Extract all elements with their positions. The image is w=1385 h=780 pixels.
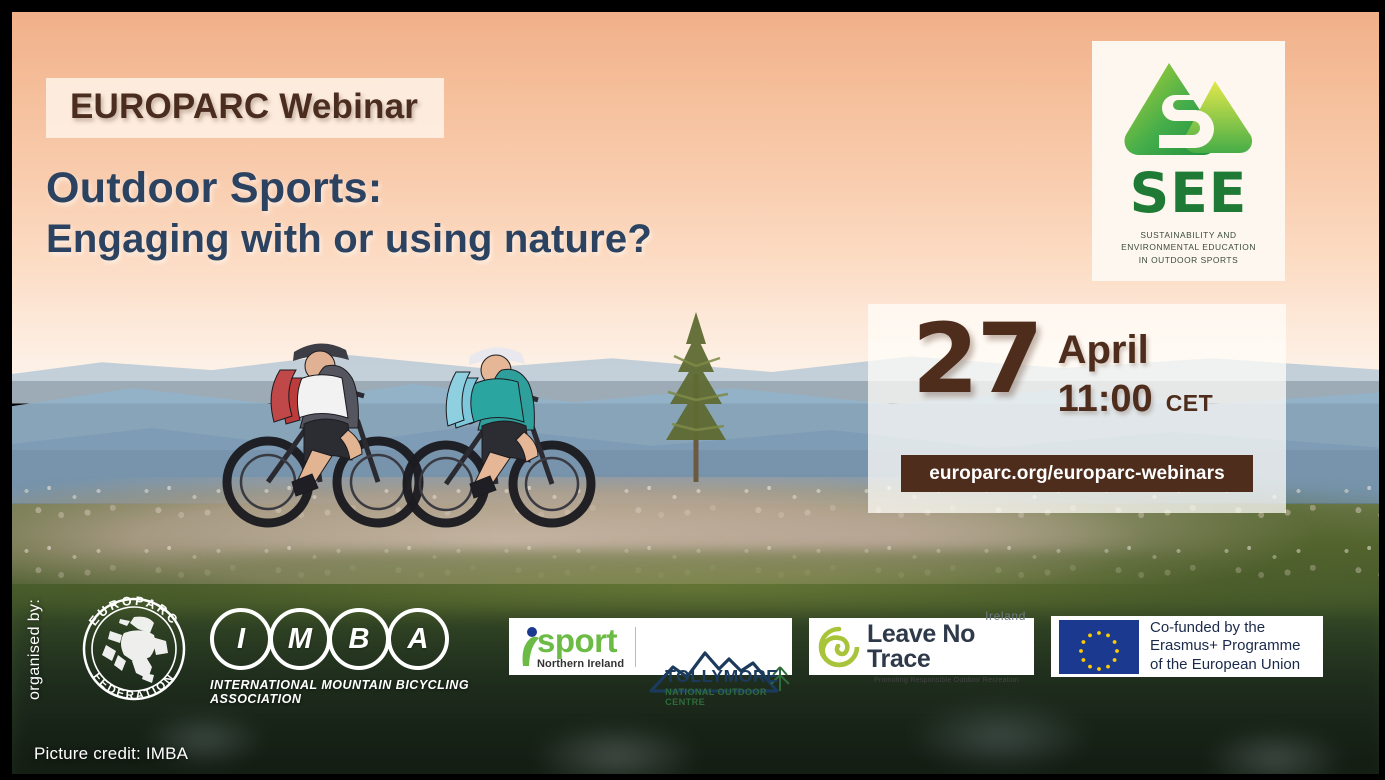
see-wordmark: SEE [1130,167,1248,219]
imba-letter-a: A [387,608,449,670]
event-day: 27 [912,320,1042,399]
eu-funding-text: Co-funded by the Erasmus+ Programme of t… [1150,619,1300,674]
sport-wordmark: sport [537,624,624,657]
eu-text-line2: Erasmus+ Programme [1150,637,1300,655]
event-date-panel: 27 April 11:00 CET europarc.org/europarc… [868,304,1286,513]
eu-flag-icon [1059,620,1139,674]
leave-no-trace-text: Ireland Leave No Trace Promoting Respons… [867,610,1026,684]
organised-by-label: organised by: [26,599,44,700]
see-subtitle: SUSTAINABILITY AND ENVIRONMENTAL EDUCATI… [1121,229,1256,266]
see-subtitle-line2: ENVIRONMENTAL EDUCATION [1121,241,1256,253]
imba-subtitle: INTERNATIONAL MOUNTAIN BICYCLING ASSOCIA… [210,678,498,706]
imba-letter-b: B [328,608,390,670]
logo-divider [635,627,636,667]
picture-credit: Picture credit: IMBA [34,744,188,764]
mountain-bikers-photo [208,260,598,540]
eu-funding-logo: Co-funded by the Erasmus+ Programme of t… [1051,616,1323,677]
event-time-row: 11:00 CET [1058,380,1214,418]
webinar-poster: EUROPARC Webinar Outdoor Sports: Engagin… [0,0,1385,780]
leave-no-trace-tagline: Promoting Responsible Outdoor Recreation [867,675,1026,684]
date-details: April 11:00 CET [1058,320,1214,418]
imba-letter-row: I M B A [210,608,498,670]
tollymore-text: TOLLYMORE NATIONAL OUTDOOR CENTRE [665,668,782,708]
event-month: April [1058,330,1214,370]
see-logo: SEE SUSTAINABILITY AND ENVIRONMENTAL EDU… [1092,41,1285,281]
see-mountain-icon [1119,55,1259,163]
eu-text-line3: of the European Union [1150,656,1300,674]
event-timezone: CET [1166,390,1214,417]
europarc-federation-logo: EUROPARC FEDERATION [76,593,192,705]
page-title: Outdoor Sports: [46,164,383,213]
imba-logo: I M B A INTERNATIONAL MOUNTAIN BICYCLING… [210,608,498,694]
sport-region: Northern Ireland [537,658,624,670]
page-subtitle: Engaging with or using nature? [46,217,652,262]
date-row: 27 April 11:00 CET [912,320,1213,418]
event-time: 11:00 [1058,380,1153,418]
see-subtitle-line3: IN OUTDOOR SPORTS [1121,254,1256,266]
tollymore-title: TOLLYMORE [665,668,782,686]
eu-text-line1: Co-funded by the [1150,619,1300,637]
see-subtitle-line1: SUSTAINABILITY AND [1121,229,1256,241]
webinar-badge: EUROPARC Webinar [46,78,444,138]
leave-no-trace-logo: Ireland Leave No Trace Promoting Respons… [809,618,1034,675]
sport-ni-tollymore-logo: sport Northern Ireland TOLLYMORE NATIONA… [509,618,792,675]
registration-url-text: europarc.org/europarc-webinars [929,463,1224,485]
svg-text:FEDERATION: FEDERATION [90,671,177,703]
poster-stage: EUROPARC Webinar Outdoor Sports: Engagin… [12,12,1385,780]
tollymore-subtitle: NATIONAL OUTDOOR CENTRE [665,687,782,707]
tree [640,304,750,484]
imba-letter-i: I [210,608,272,670]
leave-no-trace-spiral-icon [817,625,861,669]
sport-ni-lockup: sport Northern Ireland [519,624,624,670]
leave-no-trace-title: Leave No Trace [867,622,1026,672]
registration-url-button[interactable]: europarc.org/europarc-webinars [901,455,1253,492]
imba-letter-m: M [269,608,331,670]
